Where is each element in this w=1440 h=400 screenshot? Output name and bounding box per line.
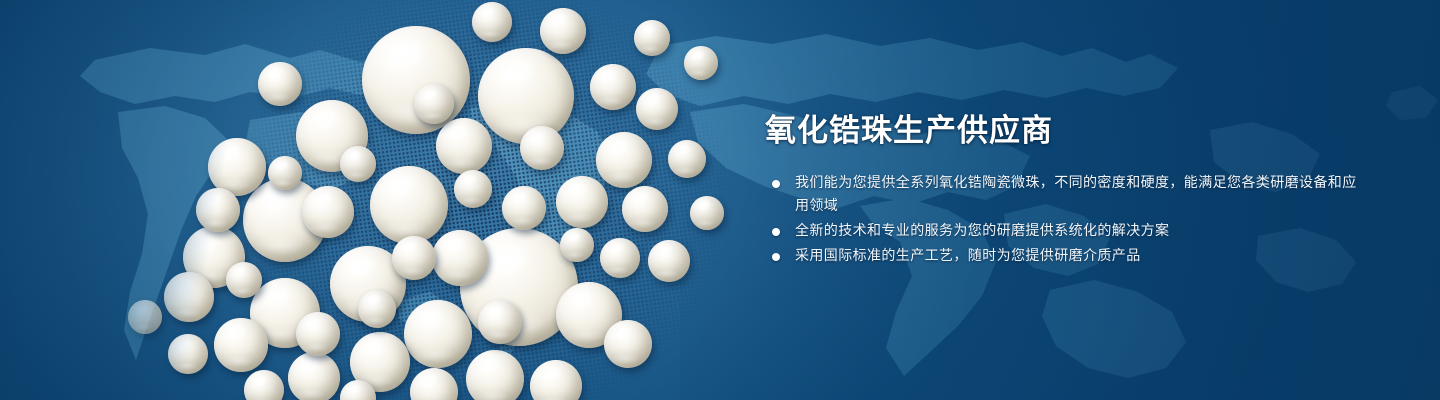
bead (340, 146, 376, 182)
bead (520, 126, 564, 170)
bead (268, 156, 302, 190)
bead (414, 84, 454, 124)
bead (370, 166, 448, 244)
bead (530, 360, 582, 400)
bead (590, 64, 636, 110)
bead (164, 272, 214, 322)
bead (648, 240, 690, 282)
list-item-text: 全新的技术和专业的服务为您的研磨提供系统化的解决方案 (795, 223, 1169, 239)
bullet-dot-icon (772, 180, 780, 188)
bead (540, 8, 586, 54)
bead (288, 352, 340, 400)
list-item: 采用国际标准的生产工艺，随时为您提供研磨介质产品 (765, 245, 1365, 268)
list-item-text: 我们能为您提供全系列氧化锆陶瓷微珠，不同的密度和硬度，能满足您各类研磨设备和应用… (795, 175, 1357, 214)
bullet-dot-icon (772, 253, 780, 261)
bead (604, 320, 652, 368)
bead (226, 262, 262, 298)
bead (668, 140, 706, 178)
bead (436, 118, 492, 174)
bead (472, 2, 512, 42)
bullet-dot-icon (772, 228, 780, 236)
bead (168, 334, 208, 374)
bead (600, 238, 640, 278)
bead (358, 290, 396, 328)
feature-list: 我们能为您提供全系列氧化锆陶瓷微珠，不同的密度和硬度，能满足您各类研磨设备和应用… (765, 172, 1365, 268)
bead (560, 228, 594, 262)
bead (556, 176, 608, 228)
bead (258, 62, 302, 106)
bead (478, 48, 574, 144)
banner-content: 氧化锆珠生产供应商 我们能为您提供全系列氧化锆陶瓷微珠，不同的密度和硬度，能满足… (765, 112, 1365, 270)
bead (214, 318, 268, 372)
page-title: 氧化锆珠生产供应商 (765, 112, 1365, 150)
bead (596, 132, 652, 188)
bead (454, 170, 492, 208)
list-item: 全新的技术和专业的服务为您的研磨提供系统化的解决方案 (765, 220, 1365, 243)
bead (502, 186, 546, 230)
list-item-text: 采用国际标准的生产工艺，随时为您提供研磨介质产品 (795, 248, 1141, 264)
bead (392, 236, 436, 280)
bead (128, 300, 162, 334)
bead (690, 196, 724, 230)
bead (636, 88, 678, 130)
zirconia-beads-image (0, 0, 740, 400)
bead (404, 300, 472, 368)
bead (362, 26, 470, 134)
bead (634, 20, 670, 56)
bead (432, 230, 488, 286)
bead (466, 350, 524, 400)
bead (684, 46, 718, 80)
bead (296, 312, 340, 356)
bead (302, 186, 354, 238)
bead (410, 368, 458, 400)
hero-banner: 氧化锆珠生产供应商 我们能为您提供全系列氧化锆陶瓷微珠，不同的密度和硬度，能满足… (0, 0, 1440, 400)
bead (622, 186, 668, 232)
bead (244, 370, 284, 400)
list-item: 我们能为您提供全系列氧化锆陶瓷微珠，不同的密度和硬度，能满足您各类研磨设备和应用… (765, 172, 1365, 218)
bead (478, 300, 522, 344)
bead (196, 188, 240, 232)
